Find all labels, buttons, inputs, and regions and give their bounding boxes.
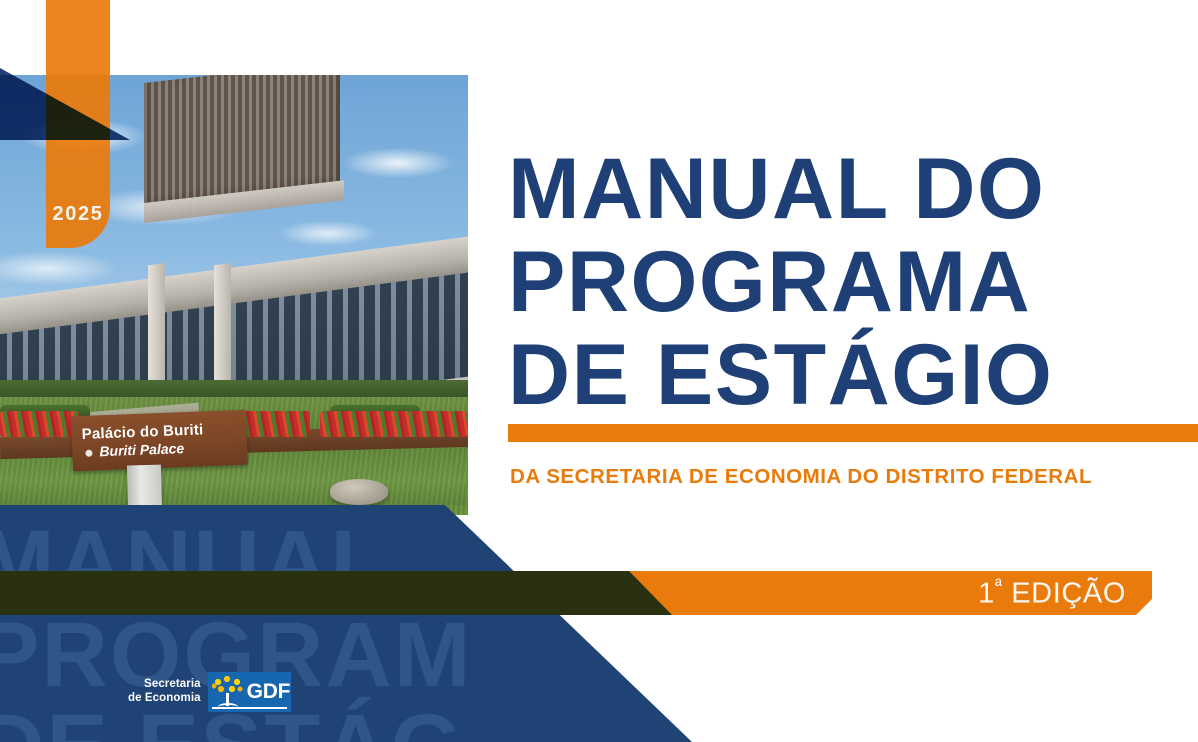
edition-word: EDIÇÃO xyxy=(1003,577,1126,609)
edition-label: 1ª EDIÇÃO xyxy=(0,571,1152,615)
title-underline-bar xyxy=(508,424,1198,442)
navy-diagonal-block xyxy=(0,505,700,742)
page-title: MANUAL DO PROGRAMA DE ESTÁGIO xyxy=(508,143,1198,422)
gdf-logo-box: GDF xyxy=(208,672,291,712)
page-subtitle: DA SECRETARIA DE ECONOMIA DO DISTRITO FE… xyxy=(510,465,1092,489)
title-line-2: PROGRAMA xyxy=(508,236,1198,329)
edition-text: 1ª EDIÇÃO xyxy=(978,576,1126,611)
garden-stone xyxy=(330,479,388,505)
gdf-logo: Secretaria de Economia GDF xyxy=(128,672,291,712)
secretaria-line-1: Secretaria xyxy=(128,678,201,692)
ipe-tree-icon xyxy=(211,675,245,709)
year-badge: 2025 xyxy=(46,0,110,248)
gdf-logo-underbar xyxy=(212,707,287,709)
sign-bullet-icon xyxy=(85,449,92,456)
building-pillar xyxy=(214,263,231,393)
secretaria-line-2: de Economia xyxy=(128,692,201,706)
palace-sign: Palácio do Buriti Buriti Palace xyxy=(71,410,248,472)
title-line-1: MANUAL DO xyxy=(508,143,1198,236)
flower-bed xyxy=(0,411,80,437)
flower-bed xyxy=(320,411,468,437)
gdf-acronym: GDF xyxy=(247,680,290,704)
edition-ordinal-icon: ª xyxy=(995,576,1003,597)
building-pillar xyxy=(148,263,165,393)
year-badge-text: 2025 xyxy=(53,203,104,226)
secretaria-wordmark: Secretaria de Economia xyxy=(128,678,201,705)
sign-label-en-text: Buriti Palace xyxy=(99,440,184,459)
cover-page: Palácio do Buriti Buriti Palace 2025 MAN… xyxy=(0,0,1198,742)
title-line-3: DE ESTÁGIO xyxy=(508,329,1198,422)
edition-number: 1 xyxy=(978,577,995,609)
